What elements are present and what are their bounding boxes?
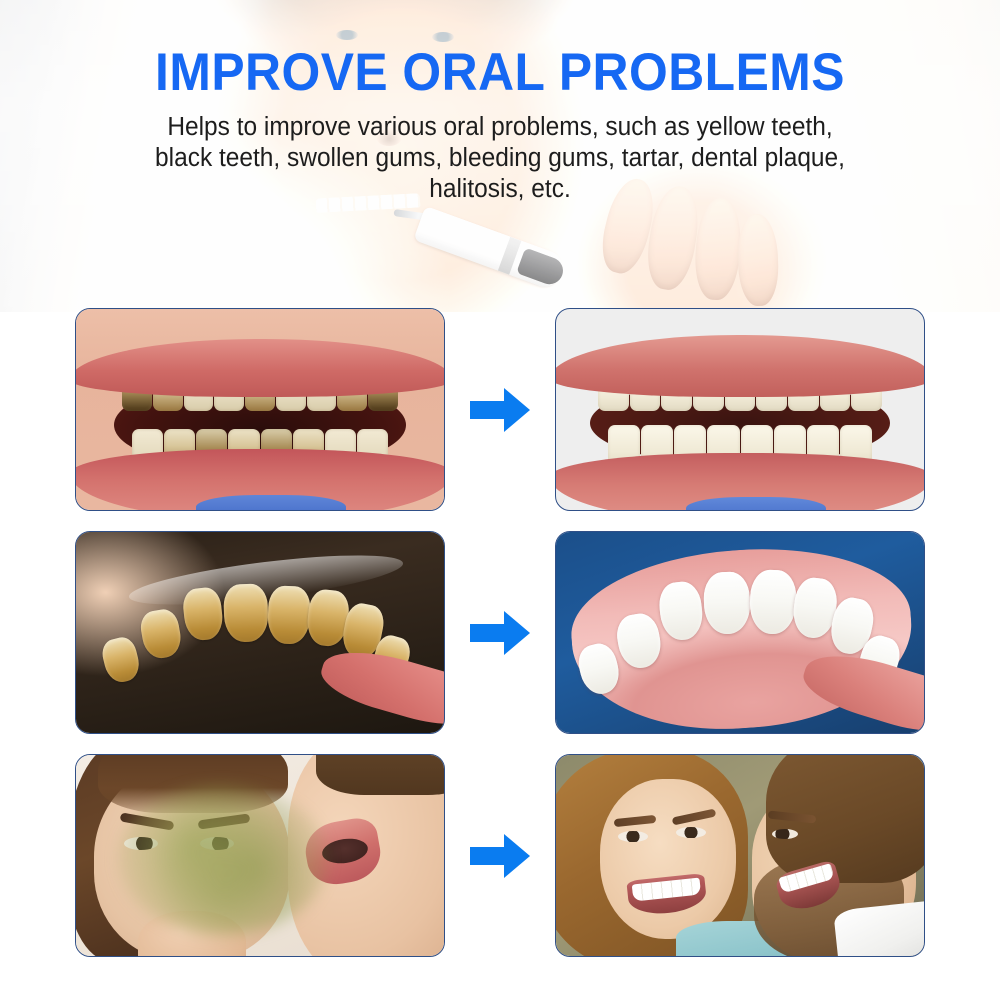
woman-teeth	[632, 878, 701, 902]
bad-breath-cloud	[118, 785, 328, 935]
woman-face	[600, 779, 736, 939]
product-infographic-page: IMPROVE ORAL PROBLEMS Helps to improve v…	[0, 0, 1000, 1000]
woman-eye	[618, 831, 648, 842]
comparison-row	[0, 529, 1000, 752]
before-after-comparison-grid	[0, 306, 1000, 975]
description-line-3: halitosis, etc.	[78, 174, 923, 205]
page-description: Helps to improve various oral problems, …	[78, 112, 923, 205]
page-title: IMPROVE ORAL PROBLEMS	[30, 46, 970, 99]
upper-lip	[555, 335, 925, 397]
arrow-right-icon	[468, 830, 532, 882]
after-photo-lower-arch	[555, 531, 925, 734]
after-photo-front-teeth	[555, 308, 925, 511]
comparison-row	[0, 752, 1000, 975]
upper-lip	[75, 339, 445, 397]
clean-tooth	[703, 571, 751, 635]
before-photo-lower-arch	[75, 531, 445, 734]
before-photo-front-teeth	[75, 308, 445, 511]
comparison-row	[0, 306, 1000, 529]
after-photo-happy-couple	[555, 754, 925, 957]
man-hair	[316, 754, 445, 795]
tartar-tooth	[223, 583, 269, 643]
description-line-1: Helps to improve various oral problems, …	[78, 112, 923, 143]
arrow-right-icon	[468, 607, 532, 659]
man-eye	[772, 829, 798, 839]
arrow-right-icon	[468, 384, 532, 436]
woman-eye	[676, 827, 706, 838]
blue-glove	[686, 497, 826, 511]
description-line-2: black teeth, swollen gums, bleeding gums…	[78, 143, 923, 174]
blue-glove	[196, 495, 346, 511]
before-photo-bad-breath	[75, 754, 445, 957]
